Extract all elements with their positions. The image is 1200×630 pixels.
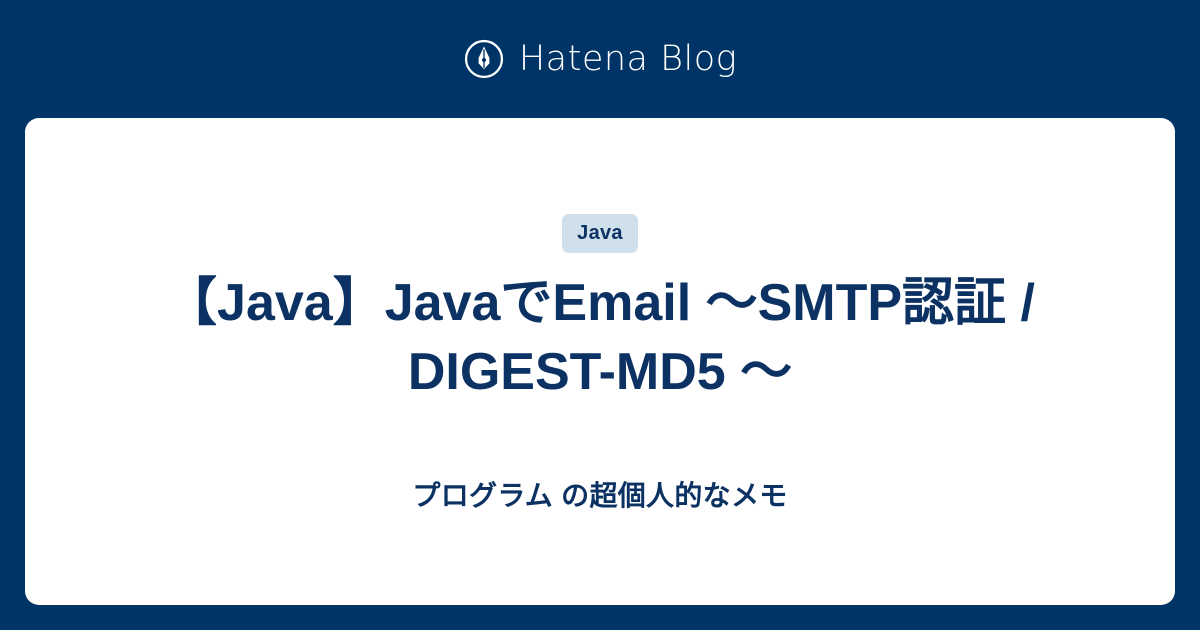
pen-nib-in-circle-icon	[463, 38, 505, 80]
category-tag-java[interactable]: Java	[562, 214, 638, 253]
entry-card: Java 【Java】JavaでEmail 〜SMTP認証 / DIGEST-M…	[25, 118, 1175, 605]
hatena-blog-logo	[463, 38, 505, 80]
ogp-card-root: Hatena Blog Java 【Java】JavaでEmail 〜SMTP認…	[0, 0, 1200, 630]
brand-header: Hatena Blog	[0, 0, 1200, 118]
brand-name: Hatena Blog	[519, 42, 737, 77]
entry-title: 【Java】JavaでEmail 〜SMTP認証 / DIGEST-MD5 〜	[100, 269, 1100, 406]
blog-title: プログラム の超個人的なメモ	[412, 478, 787, 514]
tag-list: Java	[562, 214, 638, 253]
